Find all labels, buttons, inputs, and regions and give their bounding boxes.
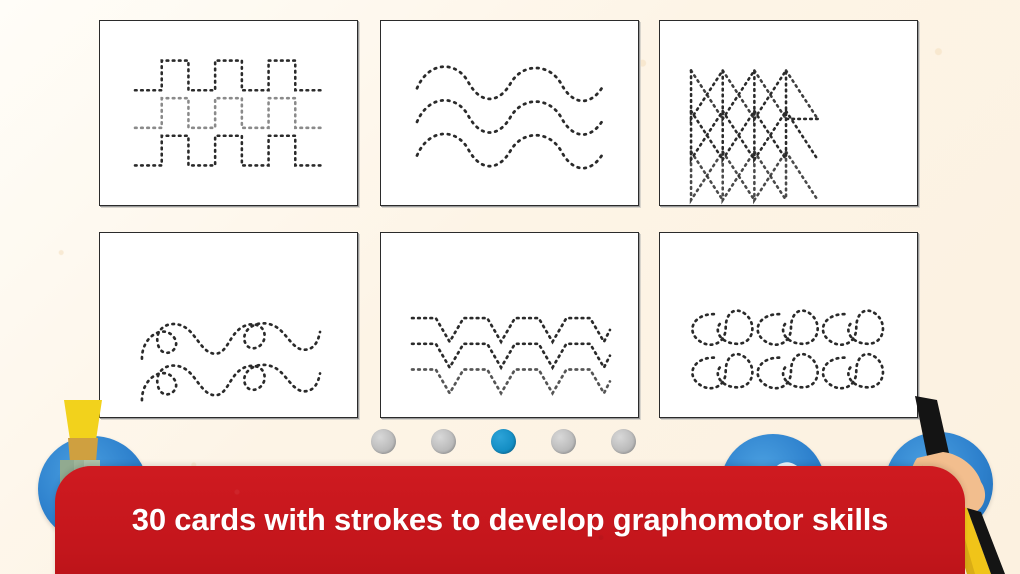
- card-3-pattern: [660, 21, 917, 205]
- card-1-pattern: [100, 21, 357, 205]
- card-6-pattern: [660, 233, 917, 417]
- caption-banner: 30 cards with strokes to develop graphom…: [55, 466, 965, 574]
- card-5-pattern: [381, 233, 638, 417]
- caption-text: 30 cards with strokes to develop graphom…: [55, 502, 965, 538]
- tracing-card-3[interactable]: [659, 20, 918, 206]
- tracing-card-4[interactable]: [99, 232, 358, 418]
- pagination-dots[interactable]: [371, 428, 636, 454]
- app-screen: 30 cards with strokes to develop graphom…: [0, 0, 1020, 574]
- tracing-card-5[interactable]: [380, 232, 639, 418]
- pagination-dot-1[interactable]: [371, 429, 396, 454]
- tracing-card-1[interactable]: [99, 20, 358, 206]
- tracing-card-6[interactable]: [659, 232, 918, 418]
- pagination-dot-5[interactable]: [611, 429, 636, 454]
- tracing-card-2[interactable]: [380, 20, 639, 206]
- pagination-dot-3[interactable]: [491, 429, 516, 454]
- card-4-pattern: [100, 233, 357, 417]
- pagination-dot-4[interactable]: [551, 429, 576, 454]
- card-2-pattern: [381, 21, 638, 205]
- pagination-dot-2[interactable]: [431, 429, 456, 454]
